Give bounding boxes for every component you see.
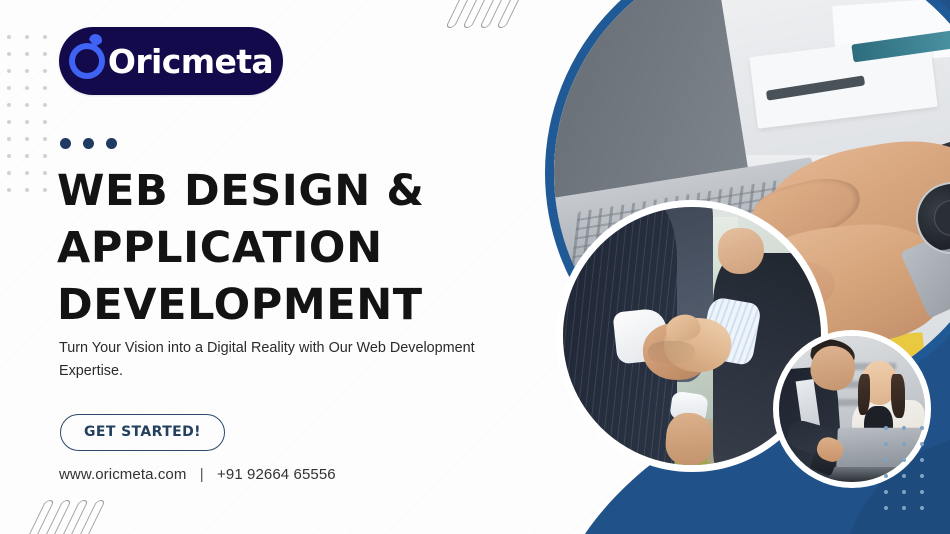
headline-line-1: WEB DESIGN & [57,163,517,220]
page-title: WEB DESIGN & APPLICATION DEVELOPMENT [57,163,517,335]
brand-logo-inner: Oricmeta [69,43,273,79]
hero-content-column: Oricmeta WEB DESIGN & APPLICATION DEVELO… [57,0,527,534]
phone-link[interactable]: +91 92664 65556 [217,466,336,483]
dot-grid-bottom-right-decoration [884,426,938,522]
brand-logo[interactable]: Oricmeta [59,27,283,95]
headline-line-3: DEVELOPMENT [57,277,517,334]
contact-separator: | [191,466,213,483]
eyebrow-dot [106,138,117,149]
eyebrow-dot [83,138,94,149]
eyebrow-dot [60,138,71,149]
letter-o-ring-icon [69,43,105,79]
marketing-banner: Oricmeta WEB DESIGN & APPLICATION DEVELO… [0,0,950,534]
brand-logo-text: Oricmeta [108,45,273,78]
contact-bar: www.oricmeta.com | +91 92664 65556 [59,466,336,483]
dot-grid-top-left-decoration [7,35,61,205]
headline-line-2: APPLICATION [57,220,517,277]
get-started-button[interactable]: GET STARTED! [60,414,225,451]
website-link[interactable]: www.oricmeta.com [59,466,186,483]
hero-subheadline: Turn Your Vision into a Digital Reality … [59,337,531,384]
eyebrow-dots [60,138,117,149]
